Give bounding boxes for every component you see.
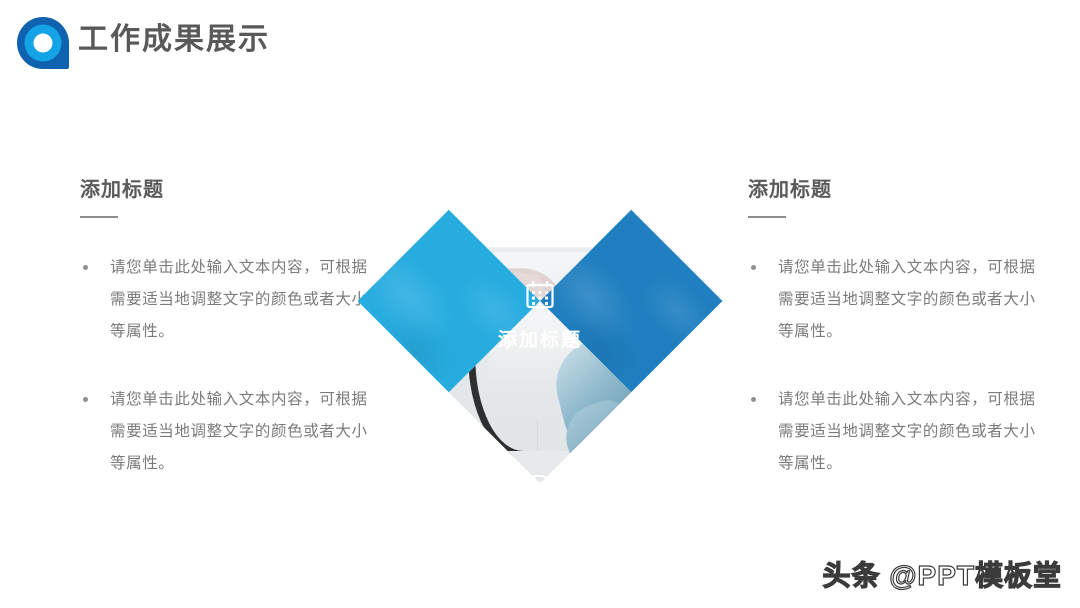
ring-droplet-logo-icon bbox=[16, 16, 70, 70]
watermark: 头条 @PPT模板堂 bbox=[822, 556, 1062, 596]
list-item-text: 请您单击此处输入文本内容，可根据需要适当地调整文字的颜色或者大小等属性。 bbox=[110, 259, 368, 340]
diamond-graphic: 添加标题 添加标题 bbox=[372, 118, 708, 484]
right-bullet-list: 请您单击此处输入文本内容，可根据需要适当地调整文字的颜色或者大小等属性。 请您单… bbox=[748, 252, 1038, 480]
diamond-bottom-content: 添加标题 bbox=[372, 475, 708, 551]
list-item-text: 请您单击此处输入文本内容，可根据需要适当地调整文字的颜色或者大小等属性。 bbox=[778, 391, 1036, 472]
list-item: 请您单击此处输入文本内容，可根据需要适当地调整文字的颜色或者大小等属性。 bbox=[80, 384, 370, 480]
list-item: 请您单击此处输入文本内容，可根据需要适当地调整文字的颜色或者大小等属性。 bbox=[748, 252, 1038, 348]
left-bullet-list: 请您单击此处输入文本内容，可根据需要适当地调整文字的颜色或者大小等属性。 请您单… bbox=[80, 252, 370, 480]
left-heading-underline bbox=[80, 216, 118, 218]
page-title: 工作成果展示 bbox=[78, 18, 270, 62]
page-header: 工作成果展示 bbox=[0, 0, 1080, 88]
list-item: 请您单击此处输入文本内容，可根据需要适当地调整文字的颜色或者大小等属性。 bbox=[748, 384, 1038, 480]
list-item-text: 请您单击此处输入文本内容，可根据需要适当地调整文字的颜色或者大小等属性。 bbox=[110, 391, 368, 472]
diamond-quadrant-group bbox=[358, 119, 723, 484]
list-item: 请您单击此处输入文本内容，可根据需要适当地调整文字的颜色或者大小等属性。 bbox=[80, 252, 370, 348]
list-item-text: 请您单击此处输入文本内容，可根据需要适当地调整文字的颜色或者大小等属性。 bbox=[778, 259, 1036, 340]
bullet-dot-icon bbox=[83, 397, 88, 402]
right-heading-underline bbox=[748, 216, 786, 218]
bullet-dot-icon bbox=[83, 265, 88, 270]
bullet-dot-icon bbox=[751, 397, 756, 402]
left-text-column: 添加标题 请您单击此处输入文本内容，可根据需要适当地调整文字的颜色或者大小等属性… bbox=[80, 176, 370, 480]
diamond-bottom-label: 添加标题 bbox=[372, 525, 708, 551]
right-column-heading: 添加标题 bbox=[748, 176, 1038, 204]
right-text-column: 添加标题 请您单击此处输入文本内容，可根据需要适当地调整文字的颜色或者大小等属性… bbox=[748, 176, 1038, 480]
left-column-heading: 添加标题 bbox=[80, 176, 370, 204]
bullet-dot-icon bbox=[751, 265, 756, 270]
